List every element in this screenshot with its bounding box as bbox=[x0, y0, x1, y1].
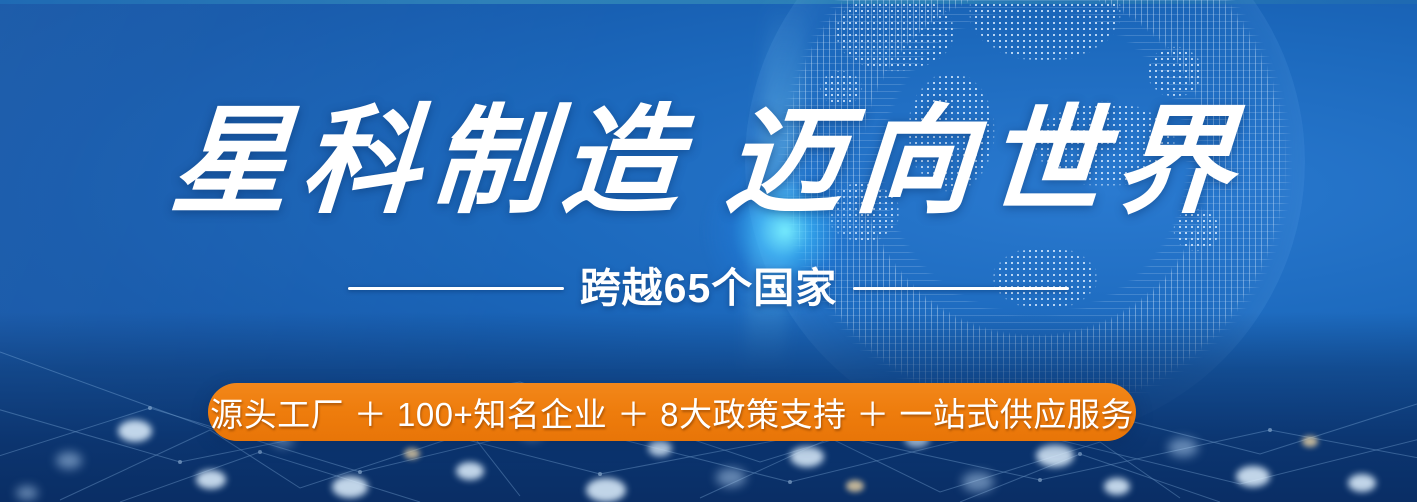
cta-pill[interactable]: 源头工厂 ＋ 100+知名企业 ＋ 8大政策支持 ＋ 一站式供应服务 bbox=[208, 383, 1136, 441]
subtitle-text: 跨越65个国家 bbox=[580, 268, 838, 309]
banner-content: 星科制造迈向世界 跨越65个国家 源头工厂 ＋ 100+知名企业 ＋ 8大政策支… bbox=[0, 0, 1417, 502]
headline: 星科制造迈向世界 bbox=[0, 104, 1417, 222]
headline-right: 迈向世界 bbox=[721, 97, 1250, 228]
rule-left bbox=[348, 287, 564, 290]
rule-right bbox=[853, 287, 1069, 290]
headline-left: 星科制造 bbox=[167, 97, 696, 228]
cta-label: 源头工厂 ＋ 100+知名企业 ＋ 8大政策支持 ＋ 一站式供应服务 bbox=[210, 388, 1134, 436]
subtitle-row: 跨越65个国家 bbox=[0, 268, 1417, 309]
promo-banner: 星科制造迈向世界 跨越65个国家 源头工厂 ＋ 100+知名企业 ＋ 8大政策支… bbox=[0, 0, 1417, 502]
